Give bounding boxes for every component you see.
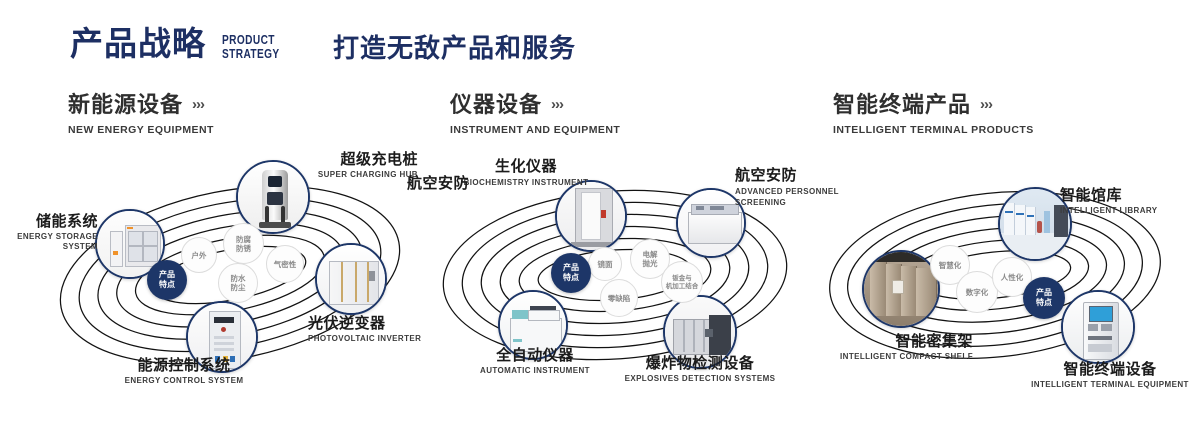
section-heading-intelligent: 智能终端产品››› INTELLIGENT TERMINAL PRODUCTS: [833, 95, 1034, 136]
page-title: 产品战略: [70, 27, 206, 60]
caption-super-charging-hub: 超级充电桩 SUPER CHARGING HUB: [278, 151, 418, 180]
intelligent-terminal-equipment-image: [1063, 292, 1133, 362]
caption-en: INTELLIGENT LIBRARY: [1060, 206, 1200, 216]
chevron-right-icon: ›››: [192, 97, 204, 112]
page-title-english: PRODUCT STRATEGY: [222, 33, 280, 61]
intelligent-compact-shelf-image: [864, 252, 938, 326]
page-title-english-line2: STRATEGY: [222, 47, 280, 61]
caption-energy-control-system: 能源控制系统 ENERGY CONTROL SYSTEM: [84, 357, 284, 386]
section-heading-instrument: 仪器设备››› INSTRUMENT AND EQUIPMENT: [450, 95, 620, 136]
caption-en: ENERGY CONTROL SYSTEM: [84, 376, 284, 386]
page-header: 产品战略 PRODUCT STRATEGY 打造无敌产品和服务: [0, 0, 1200, 86]
biochemistry-instrument-image: [557, 182, 625, 250]
feature-bubble: 户外: [181, 237, 217, 273]
cluster-intelligent: 智能馆库 INTELLIGENT LIBRARY 智能密集架 INTELLIGE…: [815, 155, 1195, 390]
product-node-intelligent-compact-shelf[interactable]: [862, 250, 940, 328]
section-heading-en: NEW ENERGY EQUIPMENT: [68, 124, 214, 136]
core-label-line1: 产品: [1036, 288, 1052, 298]
feature-bubble: 气密性: [266, 245, 304, 283]
core-badge-product-features: 产品 特点: [1023, 277, 1065, 319]
caption-energy-storage-system: 储能系统 ENERGY STORAGE SYSTEM: [0, 213, 98, 252]
caption-en: INTELLIGENT COMPACT SHELF: [793, 352, 973, 362]
caption-en: SUPER CHARGING HUB: [278, 170, 418, 180]
caption-intelligent-compact-shelf: 智能密集架 INTELLIGENT COMPACT SHELF: [793, 333, 973, 362]
cluster-new-energy: 超级充电桩 SUPER CHARGING HUB 储能系统 ENERGY STO…: [40, 155, 420, 390]
section-heading-new-energy: 新能源设备››› NEW ENERGY EQUIPMENT: [68, 95, 214, 136]
caption-cn: 智能终端设备: [1020, 361, 1200, 378]
core-badge-product-features: 产品 特点: [551, 253, 591, 293]
caption-en: EXPLOSIVES DETECTION SYSTEMS: [605, 374, 795, 384]
feature-bubble: 钣金与 机加工结合: [661, 261, 703, 303]
product-node-biochemistry-instrument[interactable]: [555, 180, 627, 252]
feature-bubble: 防水 防尘: [218, 263, 258, 303]
caption-cn: 生化仪器: [451, 158, 601, 175]
feature-bubble: 防腐 防锈: [223, 223, 264, 264]
product-node-intelligent-terminal-equipment[interactable]: [1061, 290, 1135, 364]
chevron-right-icon: ›››: [980, 97, 992, 112]
caption-en: ENERGY STORAGE SYSTEM: [0, 232, 98, 252]
photovoltaic-inverter-image: [317, 245, 385, 313]
caption-intelligent-terminal-equipment: 智能终端设备 INTELLIGENT TERMINAL EQUIPMENT: [1020, 361, 1200, 390]
core-label-line2: 特点: [1036, 298, 1052, 308]
caption-cn: 爆炸物检测设备: [605, 355, 795, 372]
section-heading-en: INTELLIGENT TERMINAL PRODUCTS: [833, 124, 1034, 136]
caption-aviation-security-overlay: 航空安防: [407, 175, 497, 192]
caption-intelligent-library: 智能馆库 INTELLIGENT LIBRARY: [1060, 187, 1200, 216]
chevron-right-icon: ›››: [551, 97, 563, 112]
product-strategy-infographic: 产品战略 PRODUCT STRATEGY 打造无敌产品和服务 新能源设备›››…: [0, 0, 1200, 422]
caption-cn: 储能系统: [0, 213, 98, 230]
caption-explosives-detection: 爆炸物检测设备 EXPLOSIVES DETECTION SYSTEMS: [605, 355, 795, 384]
core-label-line1: 产品: [563, 263, 579, 273]
page-slogan: 打造无敌产品和服务: [333, 36, 576, 62]
feature-bubble: 镜面: [588, 247, 622, 281]
section-heading-en: INSTRUMENT AND EQUIPMENT: [450, 124, 620, 136]
caption-cn: 智能密集架: [793, 333, 973, 350]
section-heading-cn: 新能源设备: [68, 95, 183, 117]
feature-bubble: 零缺陷: [600, 279, 638, 317]
caption-cn: 超级充电桩: [278, 151, 418, 168]
core-label-line2: 特点: [563, 273, 579, 283]
caption-cn: 航空安防: [407, 175, 497, 192]
caption-cn: 能源控制系统: [84, 357, 284, 374]
product-node-photovoltaic-inverter[interactable]: [315, 243, 387, 315]
caption-en: INTELLIGENT TERMINAL EQUIPMENT: [1020, 380, 1200, 390]
core-label-line1: 产品: [159, 270, 175, 280]
core-badge-product-features: 产品 特点: [147, 260, 187, 300]
section-heading-cn: 智能终端产品: [833, 95, 971, 117]
cluster-instrument: 生化仪器 BIOCHEMISTRY INSTRUMENT 航空安防 航空安防 A…: [425, 155, 805, 390]
page-title-english-line1: PRODUCT: [222, 33, 280, 47]
caption-cn: 智能馆库: [1060, 187, 1200, 204]
core-label-line2: 特点: [159, 280, 175, 290]
section-heading-cn: 仪器设备: [450, 95, 542, 117]
